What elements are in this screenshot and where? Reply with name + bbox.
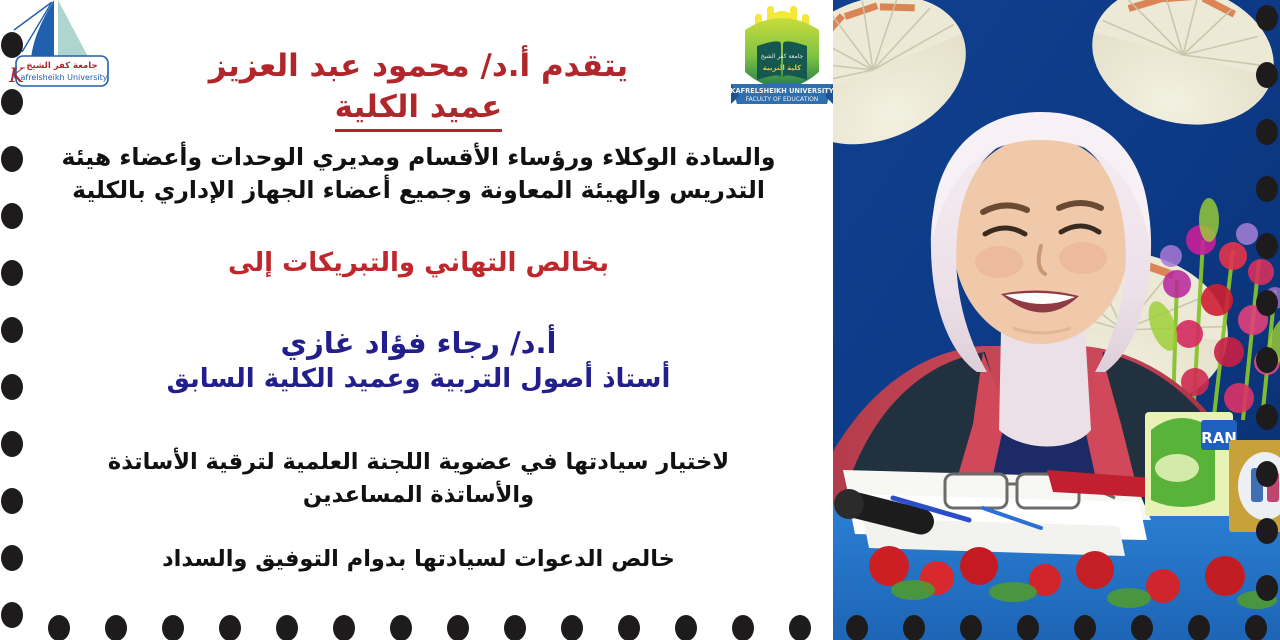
border-dot-left: [1, 488, 23, 514]
border-dot-left: [1, 32, 23, 58]
border-dot-bottom: [105, 615, 127, 640]
border-dot-bottom: [561, 615, 583, 640]
svg-text:جامعة كفر الشيخ: جامعة كفر الشيخ: [761, 53, 804, 60]
border-dot-left: [1, 146, 23, 172]
border-dot-right: [1256, 404, 1278, 430]
border-dot-bottom: [1017, 615, 1039, 640]
sender-title-line: عميد الكلية: [335, 87, 503, 132]
congratulations-line: بخالص التهاني والتبريكات إلى: [26, 246, 811, 280]
border-dot-right: [1256, 575, 1278, 601]
border-dot-bottom: [903, 615, 925, 640]
border-dot-bottom: [504, 615, 526, 640]
border-dot-left: [1, 260, 23, 286]
border-dot-bottom: [48, 615, 70, 640]
border-dot-bottom: [1074, 615, 1096, 640]
border-dot-bottom: [390, 615, 412, 640]
svg-text:afrelsheikh University: afrelsheikh University: [21, 73, 108, 82]
svg-text:KAFRELSHEIKH UNIVERSITY: KAFRELSHEIKH UNIVERSITY: [730, 87, 833, 95]
border-dot-right: [1256, 461, 1278, 487]
staff-body-text: والسادة الوكلاء ورؤساء الأقسام ومديري ال…: [26, 141, 811, 208]
border-dot-bottom: [789, 615, 811, 640]
border-dot-bottom: [219, 615, 241, 640]
border-dot-bottom: [960, 615, 982, 640]
border-dot-right: [1256, 290, 1278, 316]
honoree-name: أ.د/ رجاء فؤاد غازي: [26, 324, 811, 362]
border-dot-bottom: [675, 615, 697, 640]
svg-text:K: K: [8, 63, 25, 87]
border-dot-right: [1256, 347, 1278, 373]
closing-wish: خالص الدعوات لسيادتها بدوام التوفيق والس…: [26, 545, 811, 575]
award-reason: لاختيار سيادتها في عضوية اللجنة العلمية …: [26, 446, 811, 511]
announcement-text: يتقدم أ.د/ محمود عبد العزيز عميد الكلية …: [0, 0, 833, 640]
border-dot-bottom: [618, 615, 640, 640]
border-dot-left: [1, 431, 23, 457]
svg-text:FACULTY OF EDUCATION: FACULTY OF EDUCATION: [746, 96, 819, 103]
border-dot-left: [1, 545, 23, 571]
sender-name-line: يتقدم أ.د/ محمود عبد العزيز: [26, 46, 811, 87]
congratulation-card: RAN: [0, 0, 1280, 640]
border-dot-bottom: [333, 615, 355, 640]
border-dot-bottom: [276, 615, 298, 640]
honoree-title: أستاذ أصول التربية وعميد الكلية السابق: [26, 362, 811, 398]
faculty-of-education-seal: جامعة كفر الشيخ كلية التربية KAFRELSHEIK…: [727, 0, 837, 112]
border-dot-bottom: [846, 615, 868, 640]
border-dot-left: [1, 89, 23, 115]
border-dot-right: [1256, 119, 1278, 145]
border-dot-right: [1256, 176, 1278, 202]
border-dot-right: [1256, 5, 1278, 31]
border-dot-left: [1, 602, 23, 628]
border-dot-bottom: [1131, 615, 1153, 640]
border-dot-bottom: [447, 615, 469, 640]
border-dot-bottom: [1245, 615, 1267, 640]
border-dot-right: [1256, 233, 1278, 259]
svg-text:كلية التربية: كلية التربية: [763, 64, 802, 72]
border-dot-left: [1, 317, 23, 343]
border-dot-bottom: [732, 615, 754, 640]
border-dot-left: [1, 203, 23, 229]
border-dot-right: [1256, 62, 1278, 88]
border-dot-bottom: [1188, 615, 1210, 640]
border-dot-bottom: [162, 615, 184, 640]
border-dot-right: [1256, 518, 1278, 544]
border-dot-left: [1, 374, 23, 400]
svg-text:جامعة كفر الشيخ: جامعة كفر الشيخ: [26, 61, 97, 71]
kafrelsheikh-university-logo: جامعة كفر الشيخ afrelsheikh University K: [8, 0, 116, 104]
honoree-portrait: RAN: [833, 0, 1280, 640]
